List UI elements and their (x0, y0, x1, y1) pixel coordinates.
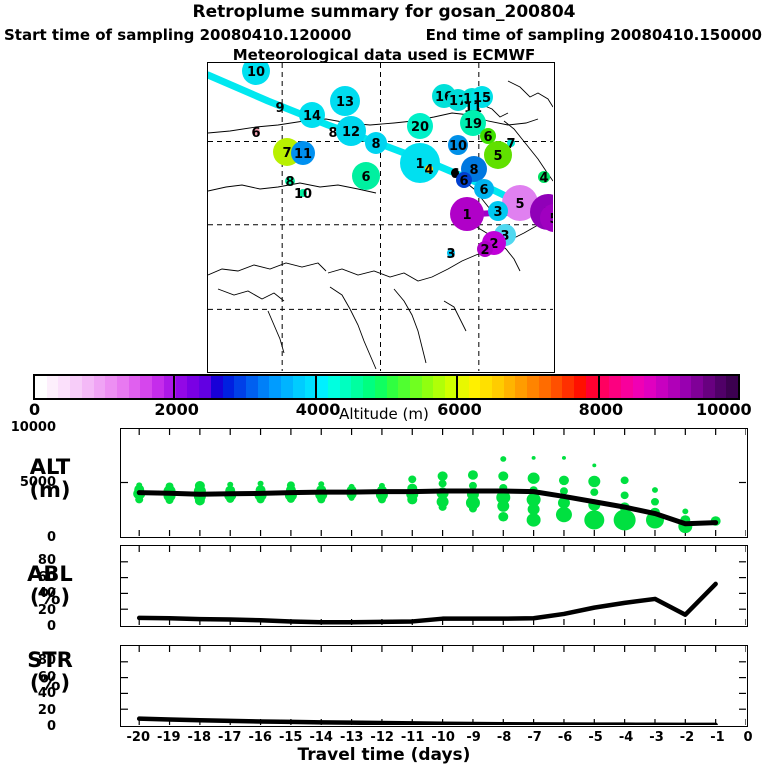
end-time-label: End time of sampling 20080410.150000 (426, 26, 762, 44)
alt-panel (120, 428, 748, 538)
svg-text:10: 10 (247, 65, 265, 80)
colorbar-segment (656, 376, 668, 398)
svg-text:4: 4 (539, 171, 548, 186)
str-ytick-label: 80 (0, 653, 56, 668)
colorbar-segment (515, 376, 527, 398)
colorbar-segment (47, 376, 59, 398)
colorbar-segment (234, 376, 246, 398)
str-ytick-label: 60 (0, 670, 56, 685)
colorbar-segment (258, 376, 270, 398)
colorbar-segment (668, 376, 680, 398)
colorbar-segment (105, 376, 117, 398)
colorbar-segment (328, 376, 340, 398)
colorbar-divider (315, 374, 317, 400)
colorbar-segment (269, 376, 281, 398)
svg-text:1: 1 (462, 208, 471, 223)
svg-text:10: 10 (449, 139, 467, 154)
colorbar-segment (492, 376, 504, 398)
colorbar-segment (140, 376, 152, 398)
colorbar-tick-label: 10000 (696, 400, 752, 419)
svg-text:9: 9 (275, 101, 284, 116)
page-title: Retroplume summary for gosan_200804 (0, 2, 768, 22)
colorbar-segment (562, 376, 574, 398)
colorbar-segment (539, 376, 551, 398)
colorbar-segment (246, 376, 258, 398)
svg-text:8: 8 (371, 137, 380, 152)
colorbar-segment (70, 376, 82, 398)
str-ytick-label: 0 (0, 719, 56, 734)
colorbar-segment (316, 376, 328, 398)
colorbar-segment (457, 376, 469, 398)
svg-text:5: 5 (515, 197, 524, 212)
svg-text:6: 6 (251, 126, 260, 141)
colorbar-segment (82, 376, 94, 398)
svg-text:6: 6 (483, 130, 492, 145)
svg-text:2: 2 (480, 243, 489, 258)
alt-ytick-label: 0 (0, 530, 56, 545)
colorbar-segment (433, 376, 445, 398)
abl-ytick-label: 40 (0, 586, 56, 601)
colorbar-tick-label: 4000 (296, 400, 341, 419)
colorbar-segment (351, 376, 363, 398)
colorbar-tick-label: 6000 (437, 400, 482, 419)
map-graphics: 1091314812687116810161718151120196107145… (208, 63, 553, 371)
svg-text:5: 5 (493, 149, 502, 164)
colorbar-segment (703, 376, 715, 398)
xaxis-tick-label: 0 (728, 730, 768, 745)
colorbar-segment (422, 376, 434, 398)
colorbar-title: Altitude (m) (0, 405, 768, 423)
colorbar-segment (35, 376, 47, 398)
altitude-colorbar (33, 374, 740, 400)
colorbar-segment (621, 376, 633, 398)
colorbar-tick-label: 8000 (579, 400, 624, 419)
colorbar-segment (211, 376, 223, 398)
svg-text:12: 12 (342, 125, 360, 140)
abl-ytick-label: 80 (0, 553, 56, 568)
colorbar-segment (117, 376, 129, 398)
colorbar-segment (574, 376, 586, 398)
colorbar-segment (715, 376, 727, 398)
str-ytick-label: 40 (0, 686, 56, 701)
colorbar-segment (644, 376, 656, 398)
colorbar-divider (598, 374, 600, 400)
alt-ytick-label: 10000 (0, 420, 56, 435)
colorbar-segment (187, 376, 199, 398)
svg-text:11: 11 (294, 147, 312, 162)
colorbar-segment (281, 376, 293, 398)
colorbar-segment (152, 376, 164, 398)
svg-text:7: 7 (282, 146, 291, 161)
colorbar-segment (199, 376, 211, 398)
colorbar-segment (469, 376, 481, 398)
svg-text:10: 10 (294, 187, 312, 202)
alt-ytick-label: 5000 (0, 475, 56, 490)
xaxis-title: Travel time (days) (0, 745, 768, 765)
colorbar-divider (173, 374, 175, 400)
colorbar-segment (551, 376, 563, 398)
abl-ytick-label: 20 (0, 603, 56, 618)
colorbar-segment (375, 376, 387, 398)
svg-text:8: 8 (328, 126, 337, 141)
colorbar-segment (223, 376, 235, 398)
str-panel (120, 645, 748, 727)
colorbar-segment (445, 376, 457, 398)
svg-text:14: 14 (303, 109, 321, 124)
svg-text:4: 4 (424, 163, 433, 178)
colorbar-segment (586, 376, 598, 398)
colorbar-segment (609, 376, 621, 398)
str-graphics (121, 646, 746, 725)
abl-graphics (121, 546, 746, 625)
colorbar-tick-label: 2000 (154, 400, 199, 419)
svg-text:13: 13 (336, 95, 354, 110)
colorbar-segment (726, 376, 738, 398)
abl-ytick-label: 0 (0, 619, 56, 634)
colorbar-segment (58, 376, 70, 398)
svg-text:6: 6 (459, 174, 468, 189)
colorbar-divider (456, 374, 458, 400)
abl-ytick-label: 60 (0, 570, 56, 585)
colorbar-segment (527, 376, 539, 398)
colorbar-segment (633, 376, 645, 398)
colorbar-segment (398, 376, 410, 398)
svg-text:6: 6 (361, 170, 370, 185)
alt-graphics (121, 429, 746, 536)
colorbar-segment (94, 376, 106, 398)
svg-text:19: 19 (464, 117, 482, 132)
svg-text:20: 20 (411, 120, 429, 135)
colorbar-segment (293, 376, 305, 398)
colorbar-segment (504, 376, 516, 398)
colorbar-segment (129, 376, 141, 398)
colorbar-segment (480, 376, 492, 398)
colorbar-segment (363, 376, 375, 398)
svg-text:8: 8 (469, 163, 478, 178)
colorbar-segment (680, 376, 692, 398)
colorbar-tick-label: 0 (29, 400, 40, 419)
colorbar-segment (387, 376, 399, 398)
colorbar-segment (410, 376, 422, 398)
svg-text:6: 6 (479, 183, 488, 198)
abl-panel (120, 545, 748, 627)
start-time-label: Start time of sampling 20080410.120000 (4, 26, 351, 44)
svg-text:3: 3 (493, 205, 502, 220)
str-ytick-label: 20 (0, 703, 56, 718)
colorbar-segment (340, 376, 352, 398)
svg-text:3: 3 (446, 247, 455, 262)
colorbar-segment (176, 376, 188, 398)
svg-text:5: 5 (549, 212, 553, 227)
svg-text:1: 1 (415, 157, 424, 172)
retroplume-map: 1091314812687116810161718151120196107145… (207, 62, 555, 373)
colorbar-segment (691, 376, 703, 398)
